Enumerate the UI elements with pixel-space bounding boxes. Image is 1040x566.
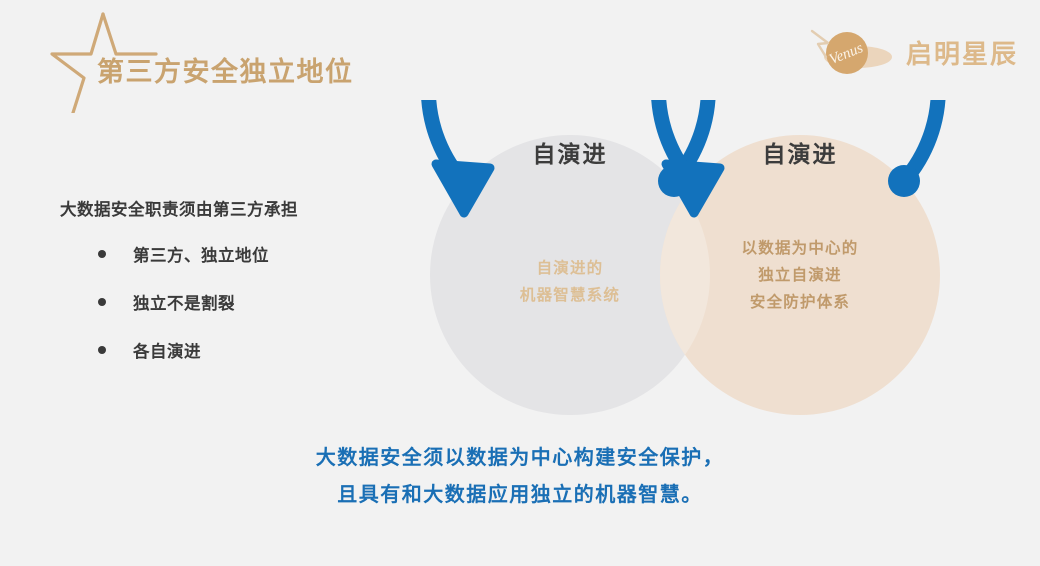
right-circle-text-line: 以数据为中心的: [742, 235, 859, 262]
right-arrow-start-dot-icon: [888, 165, 920, 197]
brand-name: 启明星辰: [906, 34, 1018, 71]
brand-logo: Venus 启明星辰: [802, 22, 1018, 82]
list-item: 第三方、独立地位: [98, 242, 410, 266]
right-circle-text-line: 独立自演进: [742, 262, 859, 289]
list-item-label: 各自演进: [133, 338, 201, 362]
list-item: 各自演进: [98, 338, 410, 362]
right-circle-caption: 自演进: [763, 135, 838, 169]
list-item: 独立不是割裂: [98, 290, 410, 314]
left-circle-text: 自演进的 机器智慧系统: [520, 255, 620, 309]
left-circle-text-line: 自演进的: [520, 255, 620, 282]
left-text-panel: 大数据安全职责须由第三方承担 第三方、独立地位 独立不是割裂 各自演进: [60, 196, 410, 386]
page-title: 第三方安全独立地位: [97, 50, 354, 89]
venn-diagram-graphic: [400, 100, 960, 430]
list-item-label: 第三方、独立地位: [133, 242, 269, 266]
right-circle-text: 以数据为中心的 独立自演进 安全防护体系: [742, 235, 859, 316]
left-circle-caption: 自演进: [533, 135, 608, 169]
bullet-dot-icon: [98, 250, 106, 258]
conclusion-line: 且具有和大数据应用独立的机器智慧。: [0, 477, 1040, 514]
panel-heading: 大数据安全职责须由第三方承担: [60, 196, 410, 220]
venustech-planet-logo-icon: Venus: [802, 23, 900, 81]
bullet-dot-icon: [98, 298, 106, 306]
bullet-dot-icon: [98, 346, 106, 354]
list-item-label: 独立不是割裂: [133, 290, 235, 314]
presentation-slide: 第三方安全独立地位 Venus 启明星辰 大数据安全职责须由第三方承担 第三方、…: [0, 0, 1040, 566]
venn-diagram: 自演进 自演进 自演进的 机器智慧系统 以数据为中心的 独立自演进 安全防护体系: [400, 100, 960, 430]
left-circle-text-line: 机器智慧系统: [520, 282, 620, 309]
right-circle-text-line: 安全防护体系: [742, 289, 859, 316]
conclusion-line: 大数据安全须以数据为中心构建安全保护，: [0, 440, 1040, 477]
conclusion-text: 大数据安全须以数据为中心构建安全保护， 且具有和大数据应用独立的机器智慧。: [0, 440, 1040, 514]
